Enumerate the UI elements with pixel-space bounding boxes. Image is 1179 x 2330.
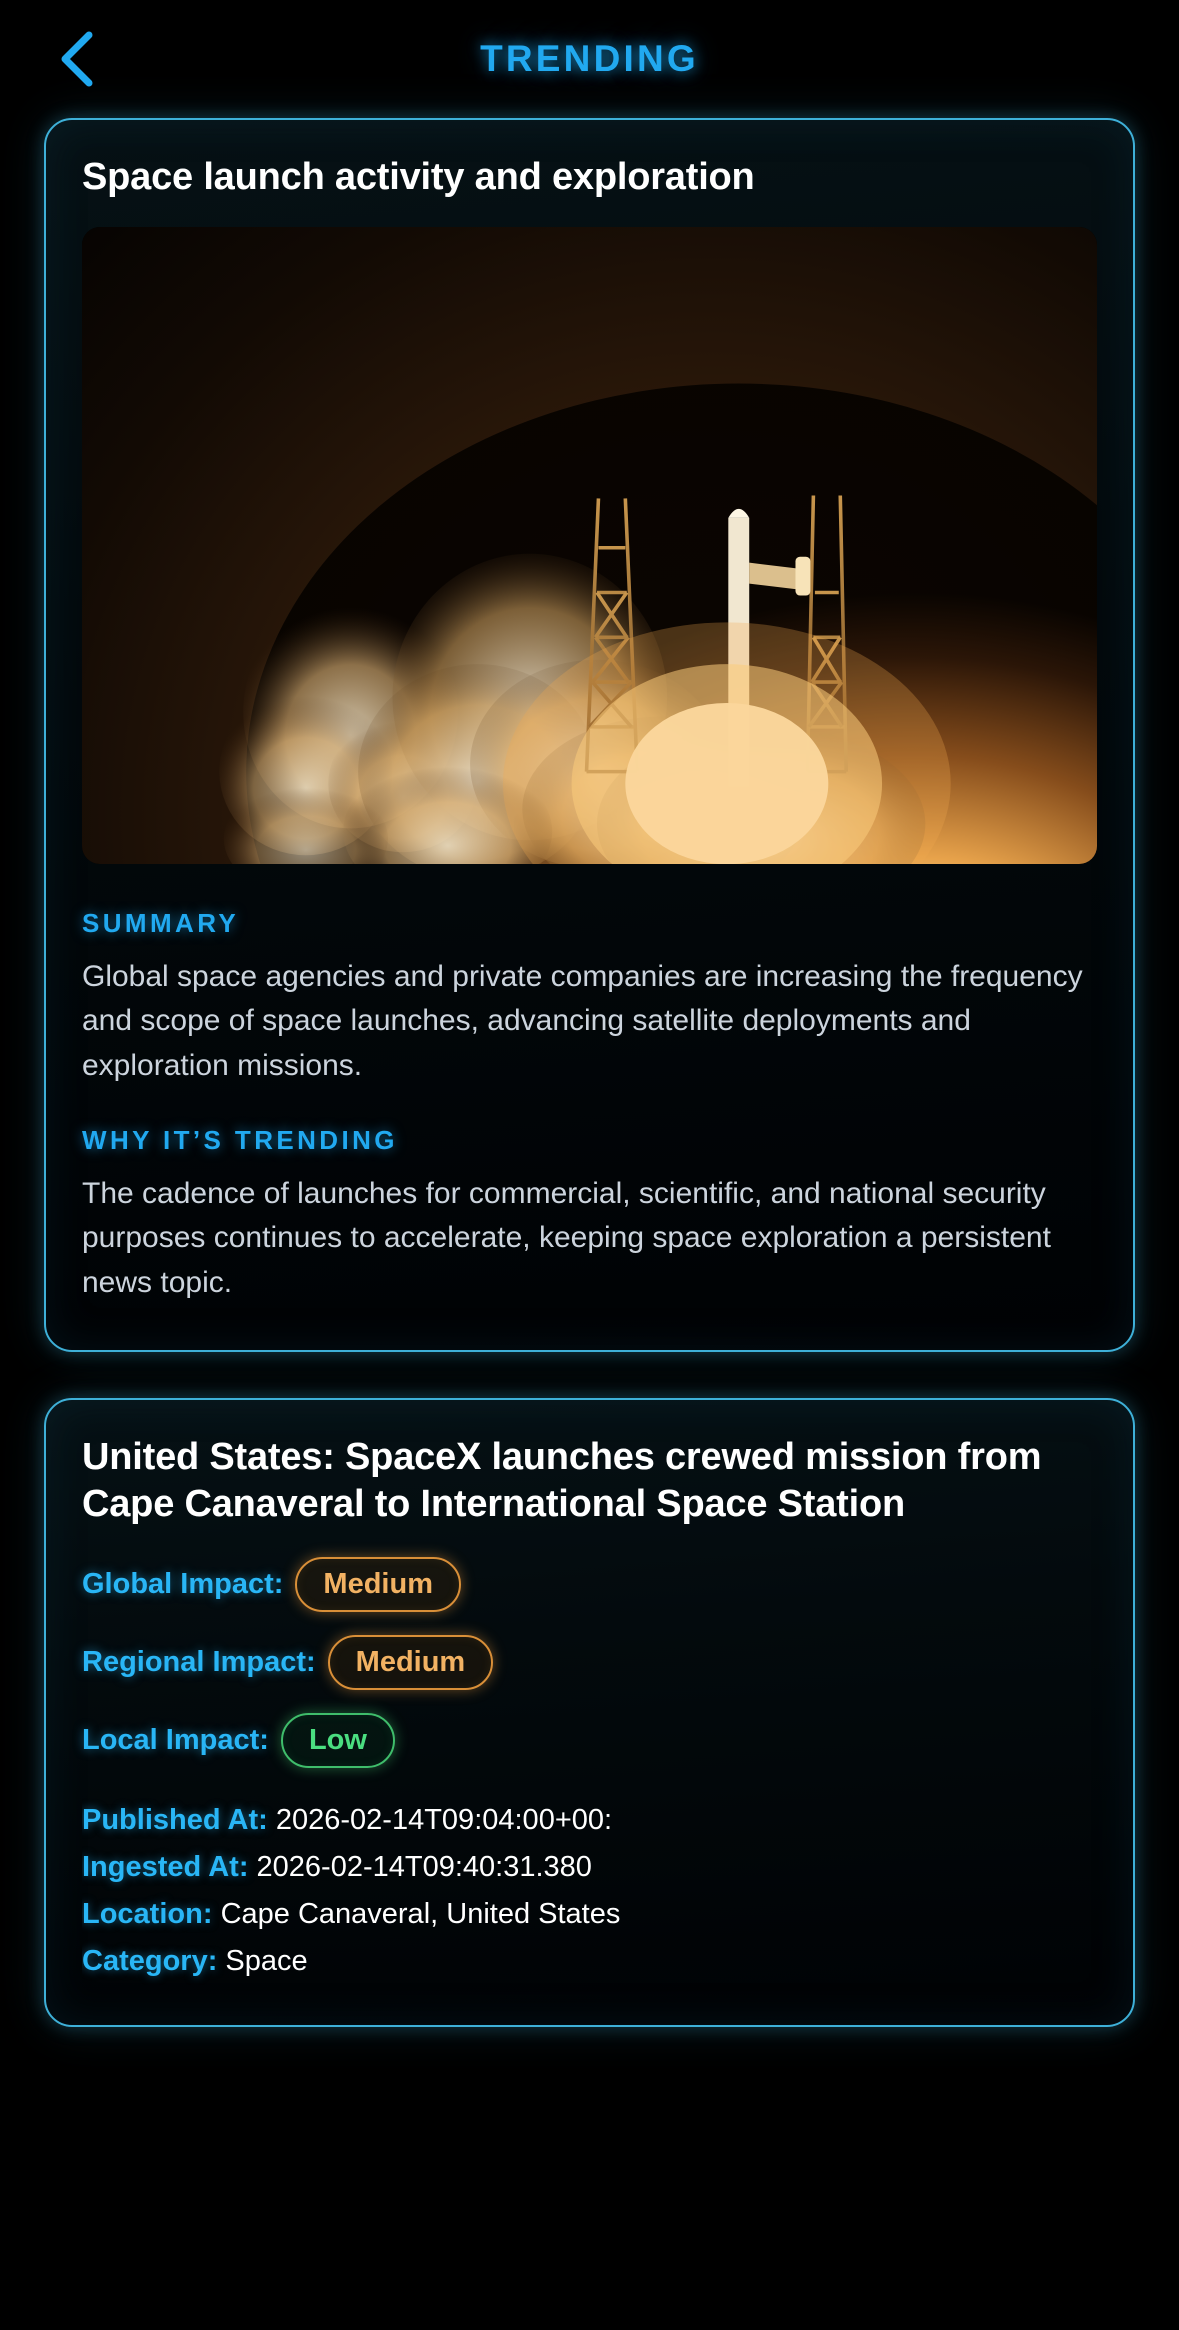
trending-card-title: Space launch activity and exploration [82,154,1097,201]
why-trending-text: The cadence of launches for commercial, … [82,1172,1097,1306]
category-label: Category: [82,1945,217,1977]
published-at-label: Published At: [82,1804,268,1836]
regional-impact-label: Regional Impact: [82,1646,316,1679]
back-button[interactable] [44,24,114,94]
regional-impact-badge: Medium [328,1635,494,1690]
rocket-launch-image [82,227,1097,864]
chevron-left-icon [57,29,101,89]
ingested-at-value: 2026-02-14T09:40:31.380 [257,1851,592,1883]
page-content: Space launch activity and exploration [0,118,1179,2027]
trending-topic-card[interactable]: Space launch activity and exploration [44,118,1135,1352]
ingested-at-label: Ingested At: [82,1851,248,1883]
global-impact-row: Global Impact: Medium [82,1553,1097,1615]
app-header: TRENDING [0,0,1179,118]
local-impact-row: Local Impact: Low [82,1709,1097,1771]
location-row: Location: Cape Canaveral, United States [82,1891,1097,1938]
ingested-at-row: Ingested At: 2026-02-14T09:40:31.380 [82,1844,1097,1891]
regional-impact-row: Regional Impact: Medium [82,1631,1097,1693]
location-value: Cape Canaveral, United States [221,1898,621,1930]
published-at-value: 2026-02-14T09:04:00+00: [276,1804,612,1836]
local-impact-label: Local Impact: [82,1724,269,1757]
page-title: TRENDING [480,38,699,80]
summary-text: Global space agencies and private compan… [82,955,1097,1089]
global-impact-label: Global Impact: [82,1568,283,1601]
category-row: Category: Space [82,1938,1097,1985]
article-metadata: Published At: 2026-02-14T09:04:00+00: In… [82,1797,1097,1985]
category-value: Space [225,1945,307,1977]
published-at-row: Published At: 2026-02-14T09:04:00+00: [82,1797,1097,1844]
location-label: Location: [82,1898,213,1930]
article-title: United States: SpaceX launches crewed mi… [82,1434,1097,1527]
local-impact-badge: Low [281,1713,395,1768]
summary-label: SUMMARY [82,908,1097,939]
global-impact-badge: Medium [295,1557,461,1612]
why-trending-label: WHY IT’S TRENDING [82,1125,1097,1156]
article-card[interactable]: United States: SpaceX launches crewed mi… [44,1398,1135,2027]
